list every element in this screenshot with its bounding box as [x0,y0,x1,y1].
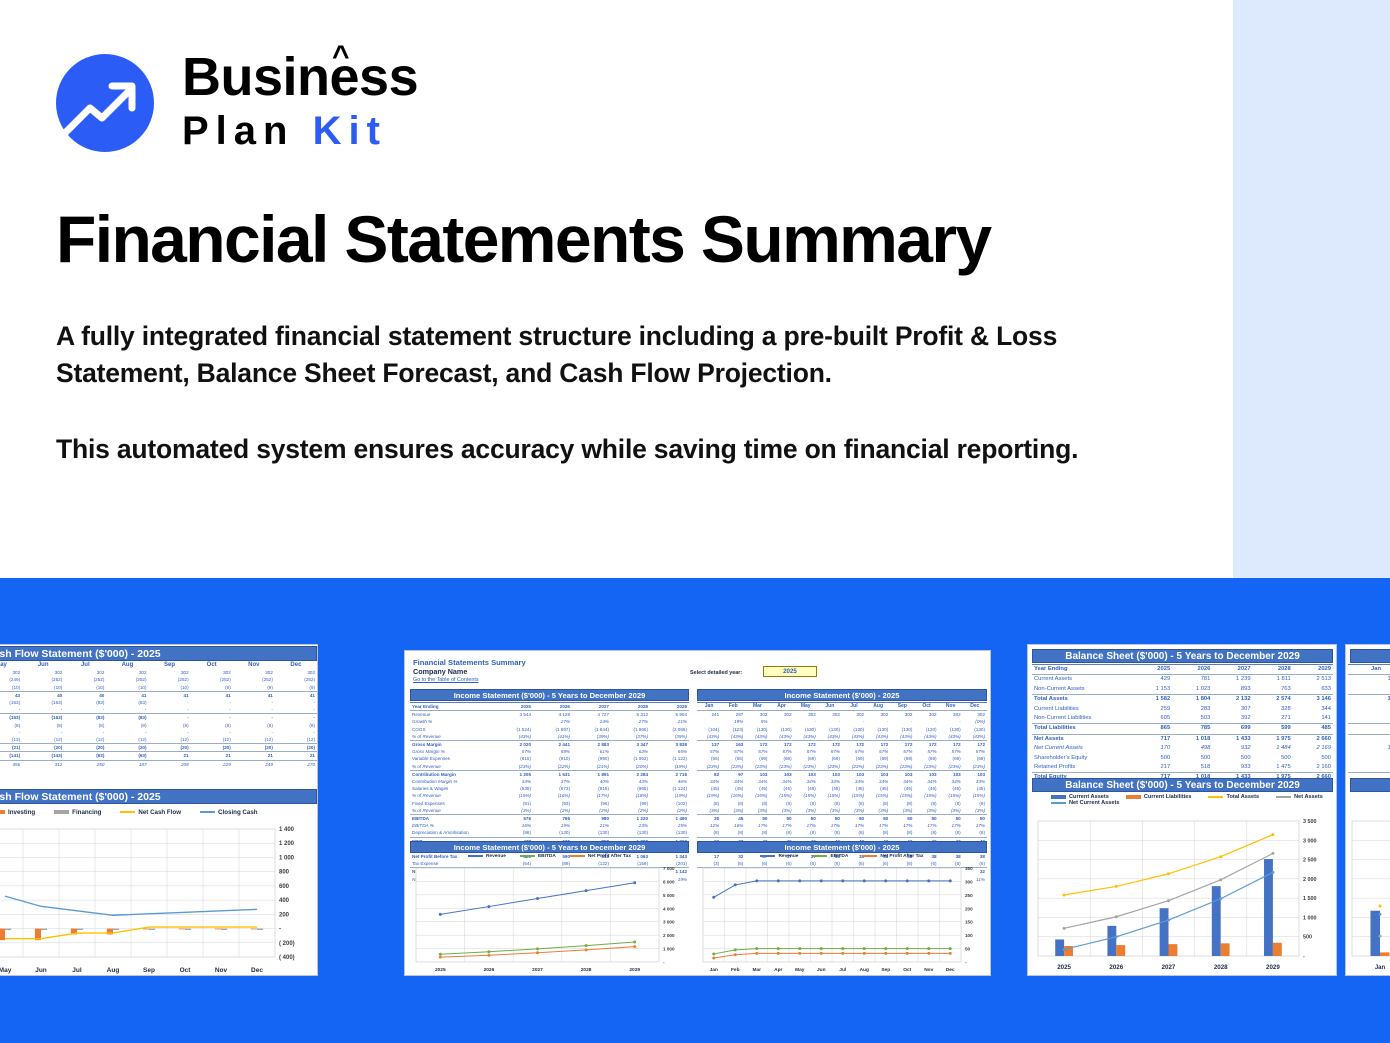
table-cell: 512 [1348,734,1390,744]
summary-company-name: Company Name [413,667,467,676]
table-cell: 765 [533,815,572,823]
legend-label: Net Assets [1294,794,1323,800]
table-cell: (16%) [721,792,745,799]
table-cell: (45) [794,785,818,792]
table-row: Net Current Assets1704989321 4842 169 [1032,744,1333,753]
table-cell: (8) [939,800,963,807]
table-cell: (8) [149,722,191,729]
svg-text:4 000: 4 000 [663,906,675,911]
table-cell: (37%) [611,733,650,741]
cash-flow-screenshot-panel[interactable]: Cash Flow Statement ($'000) - 2025 MayJu… [0,644,318,976]
row-label: % of Revenue [410,733,494,741]
legend-swatch [468,855,483,857]
table-cell: 2 441 [533,741,572,749]
svg-text:800: 800 [279,870,290,876]
table-cell: 302 [842,711,866,719]
table-cell: (17%) [572,792,611,799]
table-cell: 34% [914,778,938,785]
table-cell: 61% [572,748,611,755]
table-cell: (130) [650,829,689,837]
brand-logo[interactable]: Business ^ Plan Kit [56,48,476,156]
table-cell: (8) [818,800,842,807]
column-header: May [794,703,818,711]
table-row: (8)(8)(8)(8)(8)(8)(8)(8)(8)(8)(8)(8) [697,829,987,837]
table-cell: 699 [1212,724,1252,734]
row-label: Contribution Margin [410,770,494,778]
table-cell: 17% [890,822,914,829]
column-header: Oct [914,703,938,711]
legend-item: Net Profit After Tax [570,854,631,859]
row-label: % of Revenue [410,807,494,815]
table-cell: 302 [818,711,842,719]
table-cell: (83) [64,714,106,722]
table-cell: 57% [963,748,987,755]
table-cell: 1 484 [1253,744,1293,753]
svg-text:Jan: Jan [1375,965,1386,971]
table-cell: (20%) [611,763,650,771]
row-label: Shareholder's Equity [1032,754,1132,763]
table-cell: 605 [1132,714,1172,724]
table-row: (23%)(23%)(23%)(23%)(23%)(23%)(23%)(23%)… [697,763,987,771]
table-cell: (123) [721,726,745,733]
table-cell: (19%) [650,763,689,771]
income-statement-5y-chart: 7 0006 0005 0004 0003 0002 0001 000-2025… [410,864,689,974]
table-cell: 2 716 [650,770,689,778]
table-cell: 2 574 [1253,695,1293,705]
table-cell: 63% [611,748,650,755]
svg-text:Dec: Dec [251,967,263,974]
svg-text:2029: 2029 [1266,964,1280,971]
table-cell: - [191,699,233,706]
table-row: EBITDA5767659801 2201 490 [410,815,689,823]
table-row: (8)(8)(8)(8)(8)(8)(8)(8)(8)(8)(8)(8) [697,800,987,807]
table-row: Year Ending20252026202720282029 [410,703,689,711]
legend-item: Net Profit After Tax [862,854,923,859]
table-cell: 2029 [1293,665,1333,675]
table-cell: - [191,706,233,714]
table-row: Gross Margin2 0202 4412 8833 3473 838 [410,741,689,749]
svg-text:350: 350 [965,866,973,871]
edge-table-title [1350,649,1390,663]
svg-text:Aug: Aug [107,967,120,974]
table-cell: (8) [697,829,721,837]
table-cell: 344 [1293,705,1333,714]
legend-swatch [200,811,215,813]
table-cell: 103 [939,770,963,778]
table-row: Contribution Margin1 2051 5311 8912 2842… [410,770,689,778]
legend-label: Closing Cash [218,809,258,816]
table-cell: (252) [275,676,317,683]
table-cell: (252) [64,676,106,683]
table-cell: (130) [611,829,650,837]
table-cell: 250 [64,760,106,768]
column-header: Dec [963,703,987,711]
table-row: 302302302302302302302302 [0,669,317,676]
table-cell: (8) [866,829,890,837]
table-cell: 17% [769,822,793,829]
table-cell: - [233,706,275,714]
table-cell: (20) [233,744,275,752]
table-row: % of Revenue(23%)(22%)(21%)(20%)(19%) [410,763,689,771]
svg-text:3 000: 3 000 [1303,838,1317,844]
table-cell: 17% [914,822,938,829]
brand-name-line1: Business ^ [182,48,418,106]
table-cell: (19%) [697,792,721,799]
table-cell: 1 174 [1348,675,1390,685]
table-cell: (8) [0,722,22,729]
summary-sheet-title: Financial Statements Summary [413,658,526,667]
table-cell: (45) [914,785,938,792]
svg-text:Nov: Nov [215,967,228,974]
svg-text:-: - [1303,954,1305,960]
svg-text:2 500: 2 500 [1303,858,1317,864]
table-row: 4340404141414141 [0,691,317,699]
table-cell: - [22,706,64,714]
table-cell: 34% [494,778,533,785]
table-cell: 19% [533,822,572,829]
balance-sheet-chart-legend: Current AssetsCurrent LiabilitiesTotal A… [1032,794,1333,806]
table-cell: 59% [533,748,572,755]
table-cell: 41 [275,691,317,699]
table-cell: 103 [842,770,866,778]
table-cell: (23%) [842,763,866,771]
table-cell: 25% [650,822,689,829]
table-cell: 781 [1172,675,1212,685]
table-cell: (3%) [697,807,721,815]
table-cell: (15%) [818,792,842,799]
balance-sheet-chart: 3 5003 0002 5002 0001 5001 000500-202520… [1032,817,1333,972]
table-cell: (55) [697,755,721,762]
table-cell: (69) [939,755,963,762]
table-cell: 2 169 [1293,744,1333,753]
table-cell: 456 [0,760,22,768]
table-cell: 172 [914,741,938,749]
table-cell: 57% [890,748,914,755]
column-header: Nov [233,662,275,669]
table-row: 124 [1348,685,1390,695]
svg-text:2 000: 2 000 [663,933,675,938]
table-row: % of Revenue(43%)(41%)(39%)(37%)(35%) [410,733,689,741]
table-cell: (15%) [914,792,938,799]
table-cell: (69) [842,755,866,762]
table-cell: (8) [697,800,721,807]
table-of-contents-link[interactable]: Go to the Table of Contents [413,677,479,683]
svg-text:Jun: Jun [35,967,47,974]
row-label: Total Liabilities [1032,724,1132,734]
table-cell: 1 582 [1132,695,1172,705]
table-cell: 17% [939,822,963,829]
brand-name-kit: Kit [313,109,387,153]
table-cell: 2025 [494,703,533,711]
table-row: Total Assets1 5821 8042 1322 5743 146 [1032,695,1333,705]
table-cell: (163) [0,699,22,706]
table-cell: 17% [866,822,890,829]
table-cell: (12) [233,736,275,744]
row-label: Gross Margin [410,741,494,749]
table-row: Non-Current Assets1 1531 023893763633 [1032,685,1333,695]
table-cell: 392 [1212,714,1252,724]
legend-swatch [1051,802,1066,804]
table-cell: (69) [914,755,938,762]
table-cell: (8) [890,800,914,807]
edge-chart-title [1350,778,1390,792]
table-cell: 302 [149,669,191,676]
table-cell: 2028 [611,703,650,711]
table-cell: (130) [866,726,890,733]
svg-text:Dec: Dec [946,967,955,973]
svg-text:200: 200 [965,906,973,911]
table-cell: (23%) [963,763,987,771]
table-cell: (252) [233,676,275,683]
table-cell: - [0,729,22,736]
svg-text:500: 500 [1303,935,1312,941]
table-cell: (1 124) [650,785,689,792]
table-cell: (15%) [769,792,793,799]
table-cell: (45) [890,785,914,792]
table-cell: (8) [963,800,987,807]
table-cell: - [149,706,191,714]
svg-text:100: 100 [965,933,973,938]
table-cell: (130) [963,726,987,733]
table-cell: 170 [1132,744,1172,753]
table-cell: (20) [275,744,317,752]
table-cell: 34% [794,778,818,785]
table-cell: 34% [721,778,745,785]
select-year-label: Select detailed year: [690,670,742,676]
legend-label: Total Assets [1226,794,1259,800]
table-cell: 34% [818,778,842,785]
table-cell: (1 697) [533,726,572,733]
table-cell: (23%) [721,763,745,771]
table-cell: (43%) [721,733,745,741]
table-row: (163)(163)(83)(83)---- [0,714,317,722]
table-cell: 4 727 [572,711,611,719]
table-cell: 249 [233,760,275,768]
table-cell: (45) [818,785,842,792]
svg-text:2027: 2027 [532,967,543,973]
table-cell: (69) [866,755,890,762]
table-cell: 498 [1172,744,1212,753]
table-cell: (3%) [794,807,818,815]
table-cell: 1 297 [1348,695,1390,705]
table-cell: 34% [963,778,987,785]
table-cell: 17% [745,822,769,829]
row-label: Current Liabilities [1032,705,1132,714]
table-cell: (45) [842,785,866,792]
table-cell: 34% [769,778,793,785]
table-cell: 34% [890,778,914,785]
table-row: 1 297 [1348,695,1390,705]
svg-text:2027: 2027 [1162,964,1176,971]
table-cell: 893 [1212,685,1252,695]
table-cell: (252) [149,676,191,683]
table-cell: 34% [745,778,769,785]
table-cell: (8) [721,800,745,807]
balance-sheet-screenshot-panel[interactable]: Balance Sheet ($'000) - 5 Years to Decem… [1027,644,1337,976]
table-cell: 1 804 [1172,695,1212,705]
table-cell: - [818,718,842,725]
table-cell: (3%) [494,807,533,815]
table-cell: 41 [233,691,275,699]
table-cell: (8) [769,829,793,837]
table-cell: (23%) [914,763,938,771]
svg-text:Sep: Sep [881,967,890,973]
row-label: Current Assets [1032,675,1132,685]
table-cell: (2%) [533,807,572,815]
table-cell: 500 [1293,754,1333,763]
table-cell: 57% [697,748,721,755]
legend-label: Revenue [486,854,506,859]
table-cell: Jan [1348,665,1390,675]
table-header-row: JanFebMarAprMayJunJulAugSepOctNovDec [697,703,987,711]
table-cell: 302 [794,711,818,719]
table-row: 1 174 [1348,675,1390,685]
financial-summary-screenshot-panel[interactable]: Financial Statements Summary Company Nam… [404,650,991,976]
table-cell: (43%) [494,733,533,741]
table-cell: (45) [939,785,963,792]
balance-sheet-chart-title: Balance Sheet ($'000) - 5 Years to Decem… [1032,778,1333,792]
table-cell: - [64,729,106,736]
table-cell: (8) [818,829,842,837]
table-cell: (10) [22,684,64,692]
legend-item: Revenue [760,854,798,859]
table-cell: (8) [939,829,963,837]
table-cell: 57% [866,748,890,755]
brand-name-plan: Plan [182,109,294,153]
table-cell: 21 [191,752,233,760]
table-cell: 43 [0,691,22,699]
table-cell: 229 [191,760,233,768]
table-cell: (252) [106,676,148,683]
svg-text:2 000: 2 000 [1303,877,1317,883]
table-cell: (19%) [650,792,689,799]
table-cell: (2%) [572,807,611,815]
legend-swatch [812,855,827,857]
table-cell: 17% [818,822,842,829]
table-cell: (45) [721,785,745,792]
table-cell: (16%) [533,792,572,799]
cash-flow-chart-legend: InvestingFinancingNet Cash FlowClosing C… [0,809,313,821]
table-cell: 2025 [1132,665,1172,675]
table-cell: 103 [794,770,818,778]
table-cell: 3 544 [494,711,533,719]
table-cell: 41 [106,691,148,699]
table-cell: 50 [866,815,890,823]
table-cell: 103 [818,770,842,778]
legend-label: Net Current Assets [1069,800,1119,806]
table-cell: (43%) [745,733,769,741]
table-cell: 21 [233,752,275,760]
table-cell: 576 [494,815,533,823]
table-cell: (23%) [794,763,818,771]
svg-text:250: 250 [965,893,973,898]
table-cell: (538) [494,785,533,792]
table-cell: 103 [769,770,793,778]
table-cell: 57% [914,748,938,755]
row-label: COGS [410,726,494,733]
table-cell: (69) [818,755,842,762]
table-cell: (815) [494,755,533,762]
table-row: 500 [1348,754,1390,763]
table-cell: (69) [794,755,818,762]
table-cell: 1 531 [533,770,572,778]
table-cell: 57% [769,748,793,755]
table-cell: 172 [745,741,769,749]
table-cell: 865 [1132,724,1172,734]
table-cell: (18%) [611,792,650,799]
table-cell: (163) [22,699,64,706]
svg-text:2028: 2028 [1214,964,1228,971]
svg-text:-: - [663,960,665,965]
income-statement-2025-chart-legend: RevenueEBITDANet Profit After Tax [697,854,987,864]
table-cell: (2%) [650,807,689,815]
table-cell: (130) [769,726,793,733]
table-cell: (15%) [866,792,890,799]
table-cell: 3 347 [611,741,650,749]
balance-sheet-monthly-partial-panel[interactable]: Jan1 1741241 297936927865121 08150012512… [1345,644,1390,976]
table-cell: 302 [275,669,317,676]
table-cell: 172 [963,741,987,749]
table-cell: (141) [0,752,22,760]
table-cell: (1 844) [572,726,611,733]
table-row: COGS(1 524)(1 697)(1 844)(1 966)(2 066) [410,726,689,733]
table-cell: 57% [842,748,866,755]
table-cell: 16% [721,822,745,829]
table-cell: 2 284 [611,770,650,778]
table-cell: 302 [939,711,963,719]
table-cell: 503 [1172,714,1212,724]
table-cell [494,718,533,725]
legend-label: EBITDA [538,854,556,859]
table-cell: 500 [1212,754,1252,763]
table-cell: 2028 [1253,665,1293,675]
table-row: Current Liabilities259283307328344 [1032,705,1333,714]
table-row: Growth %27%24%27%21% [410,718,689,725]
svg-text:May: May [795,967,805,973]
table-cell: - [191,714,233,722]
legend-item: Net Assets [1276,794,1323,800]
table-row: 19%5%--------(0%) [697,718,987,725]
table-row: 1 081 [1348,744,1390,753]
table-row: Total Liabilities865785699599485 [1032,724,1333,734]
table-cell: (3%) [818,807,842,815]
table-cell: 1 433 [1212,734,1252,744]
brand-circumflex-icon: ^ [332,42,349,72]
table-cell: 692 [1348,714,1390,724]
table-cell: 37% [533,778,572,785]
row-label: % of Revenue [410,792,494,799]
table-cell: - [149,714,191,722]
column-header: Jul [842,703,866,711]
table-cell: 1 811 [1253,675,1293,685]
legend-swatch [0,810,5,814]
row-label: % of Revenue [410,763,494,771]
table-cell: (3%) [914,807,938,815]
legend-item: Net Cash Flow [120,809,181,816]
table-cell: (2%) [611,807,650,815]
hero-section: Business ^ Plan Kit Financial Statements… [0,0,1390,578]
row-label: Net Assets [1032,734,1132,744]
table-cell: - [794,718,818,725]
cash-flow-table: MayJunJulAugSepOctNovDec3023023023023023… [0,662,317,787]
table-cell: 302 [963,711,987,719]
table-cell: (83) [106,699,148,706]
table-cell: 137 [697,741,721,749]
table-cell: (63) [64,752,106,760]
table-cell: 932 [1212,744,1252,753]
table-cell: (45) [745,785,769,792]
select-year-input[interactable]: 2025 [763,666,817,677]
